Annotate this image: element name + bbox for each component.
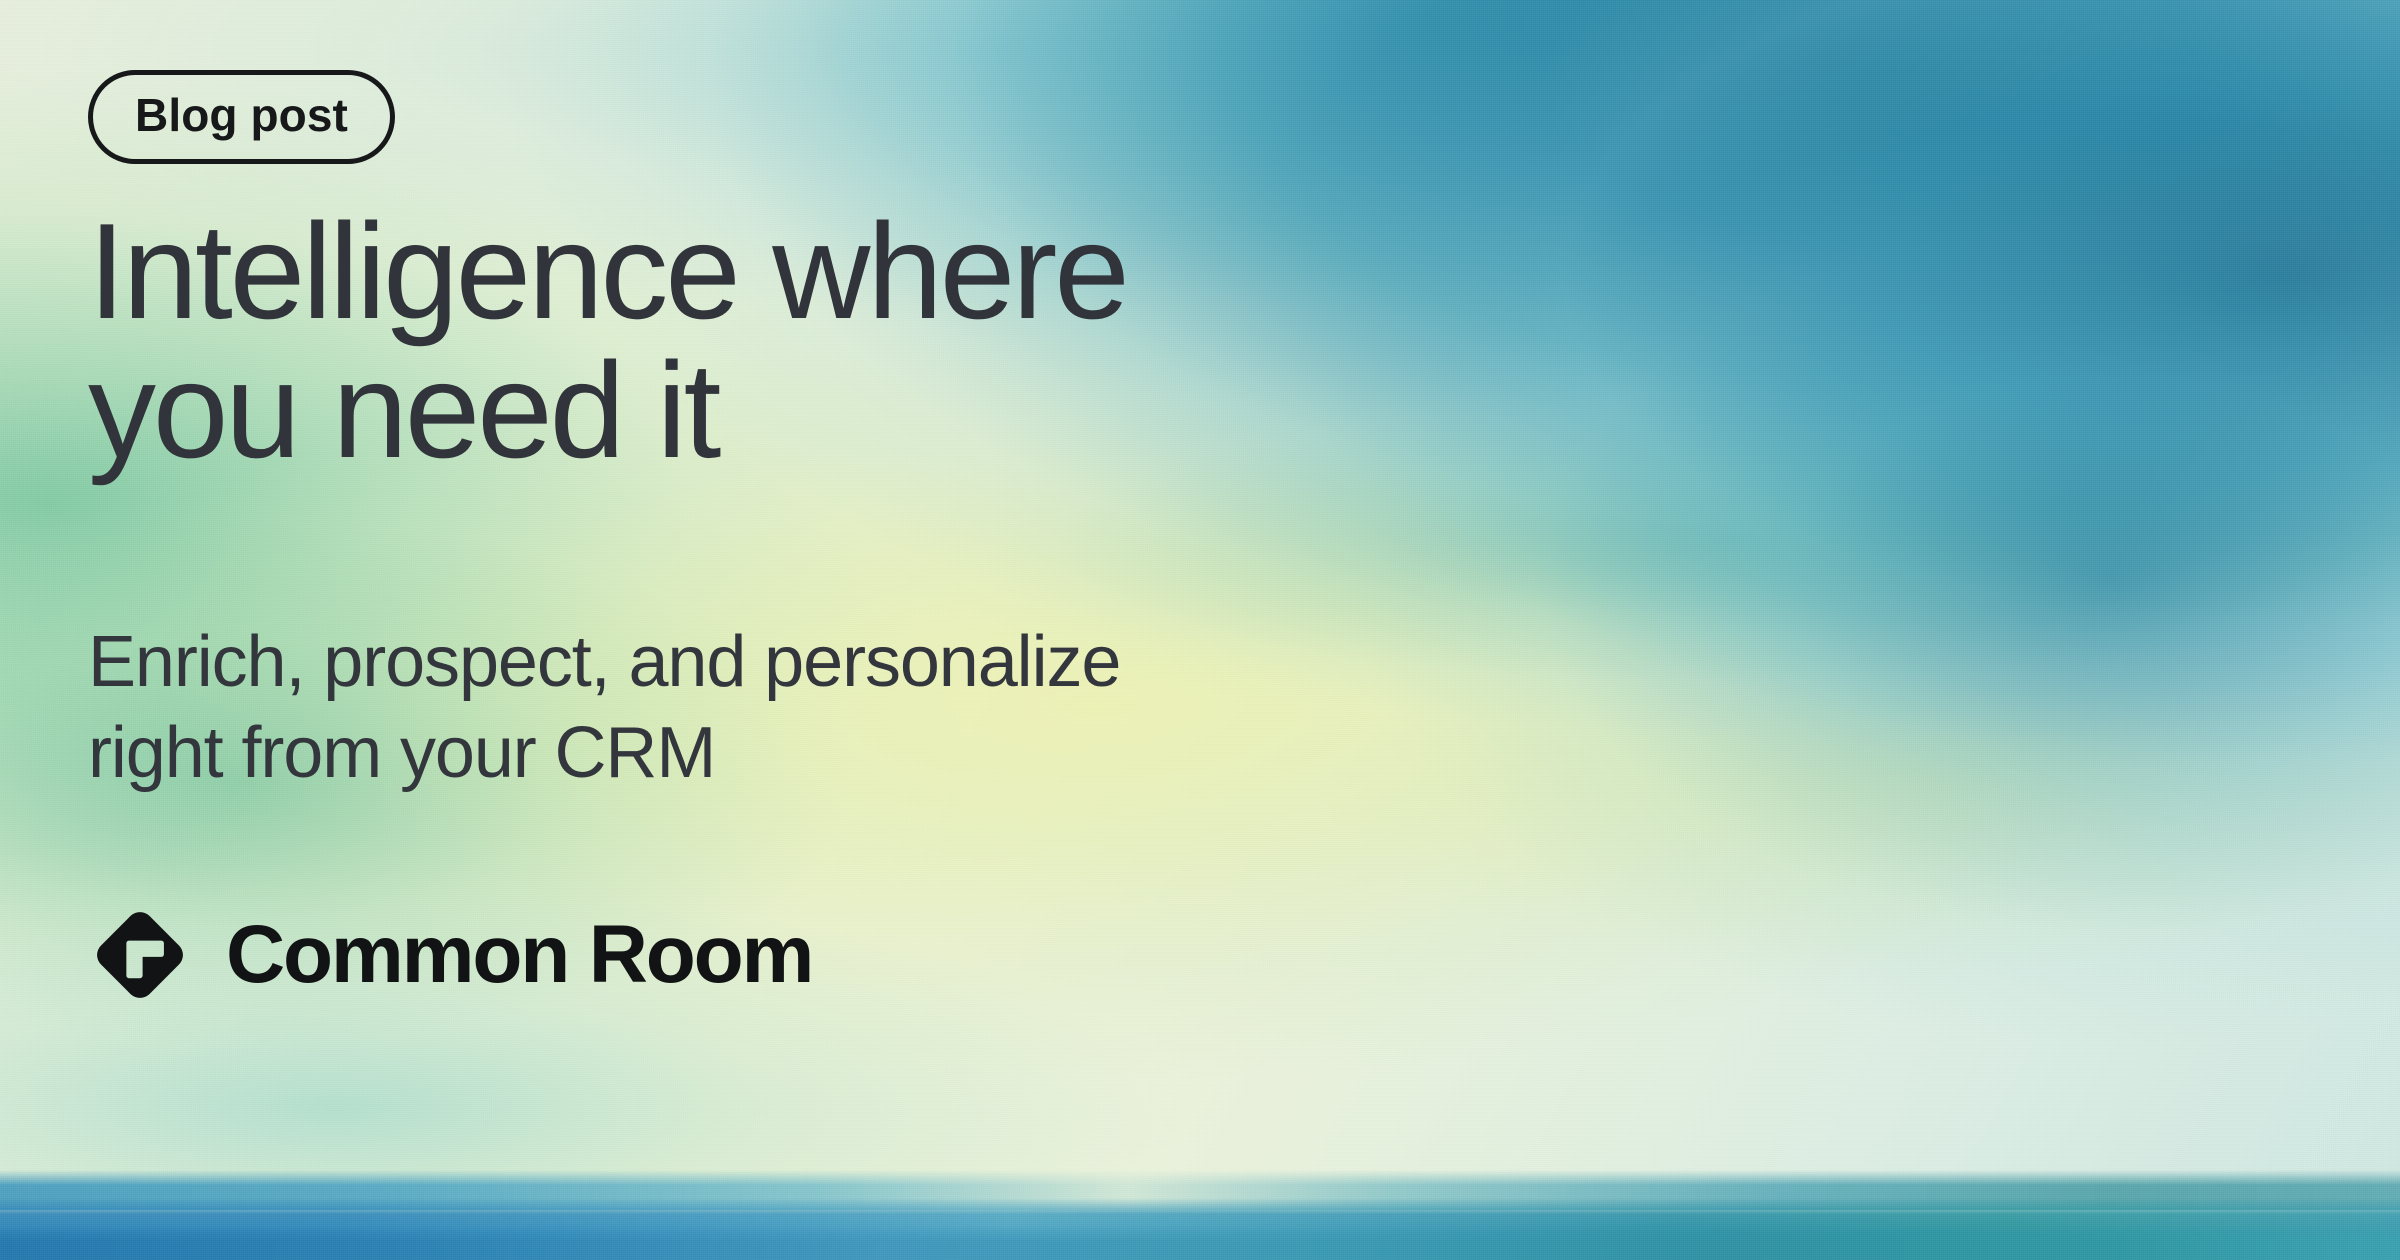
brand-name: Common Room: [226, 914, 812, 996]
horizon-band-mid: [0, 1198, 2400, 1260]
card-content: Blog post Intelligence where you need it…: [88, 70, 2312, 1007]
subhead-line-1: Enrich, prospect, and personalize: [88, 622, 1120, 702]
common-room-diamond-logo-icon: [88, 903, 192, 1007]
headline-line-2: you need it: [88, 334, 718, 486]
horizon-band-near: [0, 1226, 2400, 1260]
brand-lockup: Common Room: [88, 903, 2312, 1007]
blog-post-social-card: Blog post Intelligence where you need it…: [0, 0, 2400, 1260]
horizon-band-far: [0, 1170, 2400, 1210]
subhead-line-2: right from your CRM: [88, 713, 715, 793]
content-type-badge: Blog post: [88, 70, 395, 164]
headline-line-1: Intelligence where: [88, 195, 1127, 347]
page-subtitle: Enrich, prospect, and personalize right …: [88, 617, 1508, 798]
page-title: Intelligence where you need it: [88, 202, 1648, 479]
